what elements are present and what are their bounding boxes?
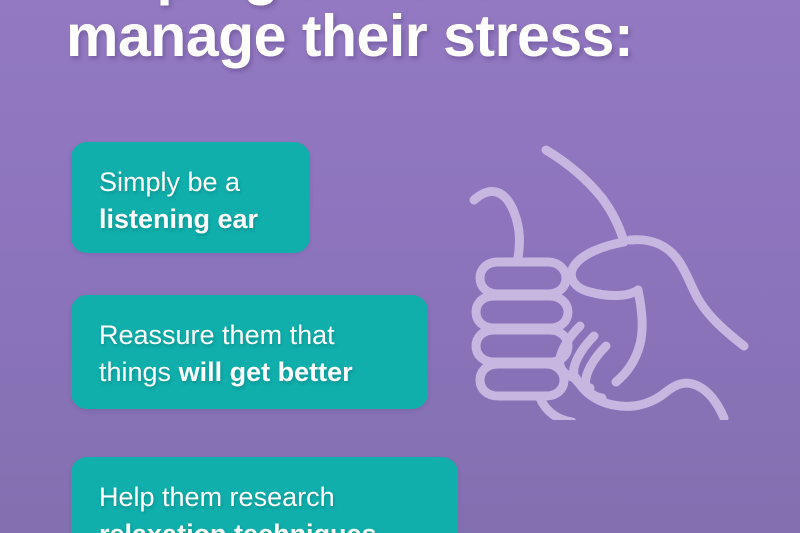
- tip-card-relaxation-techniques[interactable]: Help them research relaxation techniques: [71, 457, 458, 533]
- tip-card-line-2: things will get better: [99, 354, 353, 391]
- tip-card-line-2-prefix: things: [99, 357, 179, 387]
- tip-card-emphasis: relaxation techniques: [99, 519, 377, 533]
- tip-card-line-1: Help them research: [99, 479, 377, 516]
- tip-card-text: Simply be a listening ear: [99, 164, 258, 238]
- tip-card-text: Reassure them that things will get bette…: [99, 317, 353, 391]
- tip-card-emphasis: listening ear: [99, 204, 258, 234]
- two-hands-clasping-icon: [462, 140, 772, 420]
- tip-card-text: Help them research relaxation techniques: [99, 479, 377, 533]
- tip-card-line-1: Reassure them that: [99, 317, 353, 354]
- page-title: Helping a friend manage their stress:: [66, 0, 766, 68]
- tip-card-emphasis: will get better: [179, 357, 353, 387]
- tip-card-listening-ear[interactable]: Simply be a listening ear: [71, 142, 310, 253]
- poster-canvas: Helping a friend manage their stress:: [0, 0, 800, 533]
- tip-card-line-2: listening ear: [99, 201, 258, 238]
- tip-card-line-1: Simply be a: [99, 164, 258, 201]
- page-title-line-2: manage their stress:: [66, 5, 766, 68]
- tip-card-will-get-better[interactable]: Reassure them that things will get bette…: [71, 295, 428, 409]
- tip-card-line-2: relaxation techniques: [99, 516, 377, 533]
